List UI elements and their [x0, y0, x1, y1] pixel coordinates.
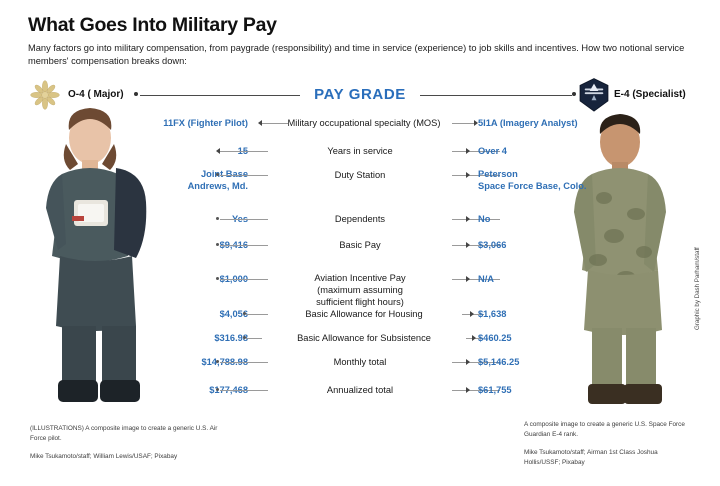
row-label: Military occupational specialty (MOS) — [276, 117, 452, 129]
arrow-right-icon — [466, 172, 470, 178]
arrow-right-icon — [466, 276, 470, 282]
row-value-right: $61,755 — [478, 384, 512, 396]
row-label: Duty Station — [252, 169, 468, 181]
connector-dot-left — [216, 217, 219, 220]
row-label: Years in service — [252, 145, 468, 157]
infographic-page: What Goes Into Military Pay Many factors… — [0, 0, 720, 486]
row-label: Basic Pay — [252, 239, 468, 251]
arrow-right-icon — [466, 216, 470, 222]
row-label: Monthly total — [252, 356, 468, 368]
row-value-left: Joint Base Andrews, Md. — [188, 168, 248, 192]
row-value-right: $1,638 — [478, 308, 506, 320]
row-label: Basic Allowance for Subsistence — [260, 332, 468, 344]
row-value-right: $5,146.25 — [478, 356, 519, 368]
arrow-right-icon — [466, 359, 470, 365]
row-value-right: $460.25 — [478, 332, 512, 344]
rank-label-right: E-4 (Specialist) — [614, 89, 686, 100]
photo-space-force-guardian — [556, 110, 686, 410]
space-force-specialist-insignia-icon — [578, 78, 610, 112]
row-value-right: Over 4 — [478, 145, 507, 157]
page-title: What Goes Into Military Pay — [28, 14, 277, 37]
arrow-right-icon — [472, 335, 476, 341]
row-label: Dependents — [252, 213, 468, 225]
row-value-right: N/A — [478, 273, 494, 285]
page-deck: Many factors go into military compensati… — [28, 42, 688, 68]
arrow-right-icon — [470, 311, 474, 317]
row-value-right: $3,066 — [478, 239, 506, 251]
arrow-right-icon — [466, 387, 470, 393]
rail-line-right — [420, 95, 572, 96]
row-label: Basic Allowance for Housing — [266, 308, 462, 320]
arrow-right-icon — [466, 242, 470, 248]
row-value-right: Peterson Space Force Base, Colo. — [478, 168, 587, 192]
arrow-right-icon — [466, 148, 470, 154]
row-label: Aviation Incentive Pay (maximum assuming… — [252, 272, 468, 308]
caption-right-text: A composite image to create a generic U.… — [524, 420, 694, 440]
row-value-left: 11FX (Fighter Pilot) — [163, 117, 248, 129]
caption-right: A composite image to create a generic U.… — [524, 420, 694, 468]
row-value-right: No — [478, 213, 490, 225]
caption-right-credit: Mike Tsukamoto/staff; Airman 1st Class J… — [524, 448, 694, 468]
connector-right — [452, 123, 476, 124]
caption-left-text: (ILLUSTRATIONS) A composite image to cre… — [30, 424, 230, 444]
connector-left — [246, 314, 268, 315]
photo-air-force-pilot — [28, 104, 168, 409]
paygrade-title: PAY GRADE — [0, 86, 720, 103]
connector-right — [452, 219, 500, 220]
row-label: Annualized total — [252, 384, 468, 396]
graphic-credit: Graphic by Dash Parham/staff — [694, 247, 701, 330]
row-value-right: 5I1A (Imagery Analyst) — [478, 117, 578, 129]
caption-left: (ILLUSTRATIONS) A composite image to cre… — [30, 424, 230, 462]
caption-left-credit: Mike Tsukamoto/staff; William Lewis/USAF… — [30, 452, 230, 462]
